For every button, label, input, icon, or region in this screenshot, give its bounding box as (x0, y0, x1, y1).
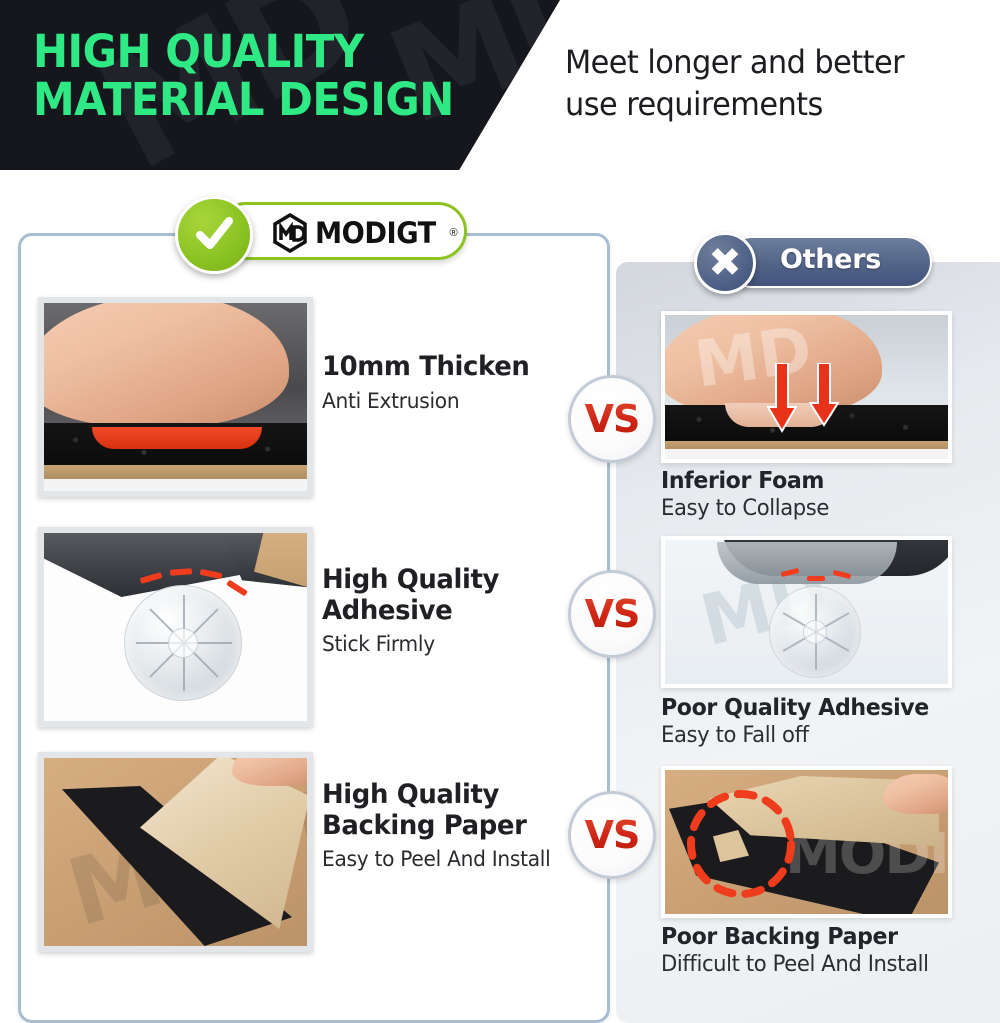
page-subtitle: Meet longer and better use requirements (565, 42, 964, 125)
vs-label: VS (585, 813, 640, 857)
competitor-text-poor-backing: Poor Backing Paper Difficult to Peel And… (661, 924, 991, 977)
vs-badge: VS (568, 375, 656, 463)
product-photo-thick-foam (38, 297, 313, 497)
others-label: Others (780, 244, 881, 275)
vs-label: VS (585, 592, 640, 636)
brand-badge-others: Others ✖ (694, 232, 932, 294)
header-banner: MD MD HIGH QUALITY MATERIAL DESIGN Meet … (0, 0, 1000, 170)
brand-name: MODIGT (315, 216, 436, 250)
feature-title: High Quality Adhesive (322, 565, 562, 626)
hex-logo-icon (270, 213, 310, 253)
page-title: HIGH QUALITY MATERIAL DESIGN (33, 28, 479, 124)
competitor-title: Poor Backing Paper (661, 924, 978, 950)
competitor-title: Poor Quality Adhesive (661, 695, 978, 721)
feature-text-backing: High Quality Backing Paper Easy to Peel … (322, 780, 572, 871)
vs-badge: VS (568, 570, 656, 658)
feature-text-adhesive: High Quality Adhesive Stick Firmly (322, 565, 572, 656)
feature-subtitle: Easy to Peel And Install (322, 847, 562, 871)
feature-subtitle: Stick Firmly (322, 632, 562, 656)
feature-subtitle: Anti Extrusion (322, 389, 562, 413)
product-photo-adhesive (38, 527, 313, 727)
competitor-text-inferior-foam: Inferior Foam Easy to Collapse (661, 468, 991, 521)
vs-label: VS (585, 397, 640, 441)
x-icon: ✖ (694, 232, 756, 294)
down-arrow-icon (809, 363, 839, 427)
feature-title: 10mm Thicken (322, 352, 562, 383)
dashed-circle-highlight-icon (681, 784, 801, 904)
registered-mark: ® (449, 227, 457, 239)
competitor-photo-inferior-foam: MD (661, 311, 952, 463)
vs-badge: VS (568, 791, 656, 879)
competitor-text-poor-adhesive: Poor Quality Adhesive Easy to Fall off (661, 695, 991, 748)
down-arrow-icon (767, 363, 797, 433)
modigt-logo: MODIGT ® (270, 213, 458, 253)
feature-text-thicken: 10mm Thicken Anti Extrusion (322, 352, 572, 413)
competitor-subtitle: Easy to Fall off (661, 723, 978, 748)
competitor-subtitle: Difficult to Peel And Install (661, 952, 978, 977)
competitor-subtitle: Easy to Collapse (661, 496, 978, 521)
competitor-title: Inferior Foam (661, 468, 978, 494)
check-mark-icon (191, 212, 237, 258)
brand-badge-modigt: MODIGT ® (175, 196, 467, 268)
competitor-photo-poor-backing: MODIG (661, 766, 952, 918)
competitor-photo-poor-adhesive: MD (661, 536, 952, 688)
check-icon (175, 196, 253, 274)
feature-title: High Quality Backing Paper (322, 780, 562, 841)
product-photo-backing-paper: MODIGT (38, 752, 313, 952)
